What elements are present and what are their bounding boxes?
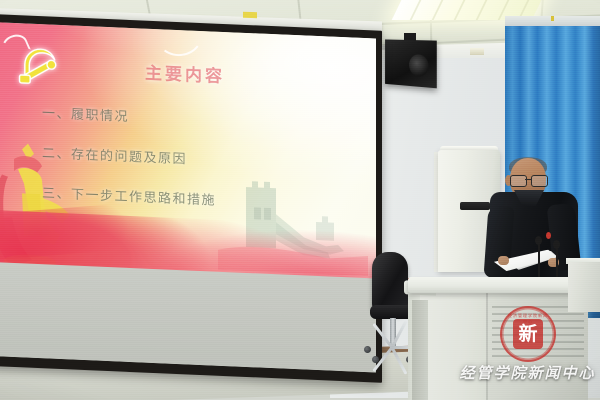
wall-speaker (385, 39, 437, 88)
screen-surface: 主要内容 一、履职情况 二、存在的问题及原因 三、下一步工作思路和措施 (0, 22, 376, 372)
gooseneck-microphone[interactable] (551, 240, 565, 282)
projection-screen: 主要内容 一、履职情况 二、存在的问题及原因 三、下一步工作思路和措施 (0, 14, 382, 383)
podium-surface[interactable] (408, 277, 590, 293)
curtain-hook-icon (551, 16, 554, 21)
chair-caster (372, 356, 379, 363)
slide-bullet-2: 二、存在的问题及原因 (42, 142, 216, 168)
screen-blank-area (0, 263, 376, 373)
screen-case-label (243, 12, 257, 18)
projected-slide: 主要内容 一、履职情况 二、存在的问题及原因 三、下一步工作思路和措施 (0, 22, 376, 282)
podium-vent-grille (492, 306, 584, 358)
ac-control-panel[interactable] (460, 202, 490, 210)
side-cabinet (568, 262, 600, 312)
gooseneck-microphone[interactable] (532, 236, 546, 282)
slide-bullet-1: 一、履职情况 (42, 102, 216, 128)
wall-sign (470, 48, 484, 55)
slide-bullet-3: 三、下一步工作思路和措施 (42, 182, 216, 208)
slide-bullet-list: 一、履职情况 二、存在的问题及原因 三、下一步工作思路和措施 (42, 102, 216, 229)
microphone-indicator-light (546, 232, 551, 239)
speaker-cone-icon (409, 54, 429, 77)
chair-caster (364, 346, 371, 353)
photo-scene: 主要内容 一、履职情况 二、存在的问题及原因 三、下一步工作思路和措施 (0, 0, 600, 400)
glasses-icon (510, 175, 548, 186)
podium-edge (486, 292, 488, 400)
podium-shelf (412, 300, 428, 400)
presenter-hand (498, 256, 509, 265)
